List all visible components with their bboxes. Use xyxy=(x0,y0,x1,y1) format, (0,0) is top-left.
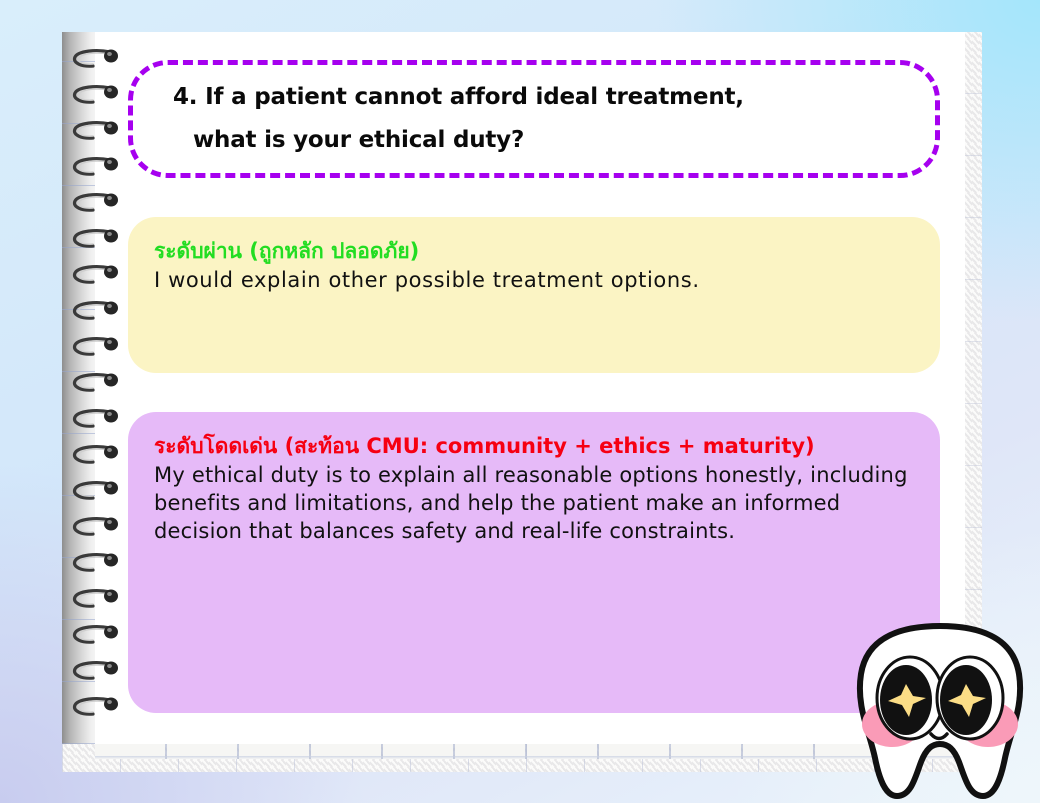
question-line-1: 4. If a patient cannot afford ideal trea… xyxy=(159,86,909,109)
spiral-ring xyxy=(66,300,118,322)
spiral-ring xyxy=(66,660,118,682)
spiral-ring xyxy=(66,480,118,502)
notepad: 4. If a patient cannot afford ideal trea… xyxy=(62,32,982,772)
answer-card-outstanding-level: ระดับโดดเด่น (สะท้อน CMU: community + et… xyxy=(128,412,940,713)
pass-level-body: I would explain other possible treatment… xyxy=(154,266,914,294)
outstanding-level-heading: ระดับโดดเด่น (สะท้อน CMU: community + et… xyxy=(154,434,914,459)
spiral-ring xyxy=(66,696,118,718)
spiral-ring xyxy=(66,516,118,538)
spiral-ring xyxy=(66,48,118,70)
spiral-binding xyxy=(66,48,124,748)
answer-card-pass-level: ระดับผ่าน (ถูกหลัก ปลอดภัย) I would expl… xyxy=(128,217,940,373)
spiral-ring xyxy=(66,336,118,358)
spiral-ring xyxy=(66,156,118,178)
tooth-mascot-icon xyxy=(845,618,1035,803)
outstanding-level-body: My ethical duty is to explain all reason… xyxy=(154,461,914,545)
question-line-2: what is your ethical duty? xyxy=(159,129,909,152)
spiral-ring xyxy=(66,444,118,466)
spiral-ring xyxy=(66,84,118,106)
question-box: 4. If a patient cannot afford ideal trea… xyxy=(128,60,940,178)
spiral-ring xyxy=(66,552,118,574)
spiral-ring xyxy=(66,624,118,646)
spiral-ring xyxy=(66,192,118,214)
spiral-ring xyxy=(66,372,118,394)
slide-canvas: 4. If a patient cannot afford ideal trea… xyxy=(0,0,1040,803)
spiral-ring xyxy=(66,264,118,286)
pass-level-heading: ระดับผ่าน (ถูกหลัก ปลอดภัย) xyxy=(154,239,914,264)
spiral-ring xyxy=(66,588,118,610)
spiral-ring xyxy=(66,408,118,430)
spiral-ring xyxy=(66,120,118,142)
spiral-ring xyxy=(66,228,118,250)
